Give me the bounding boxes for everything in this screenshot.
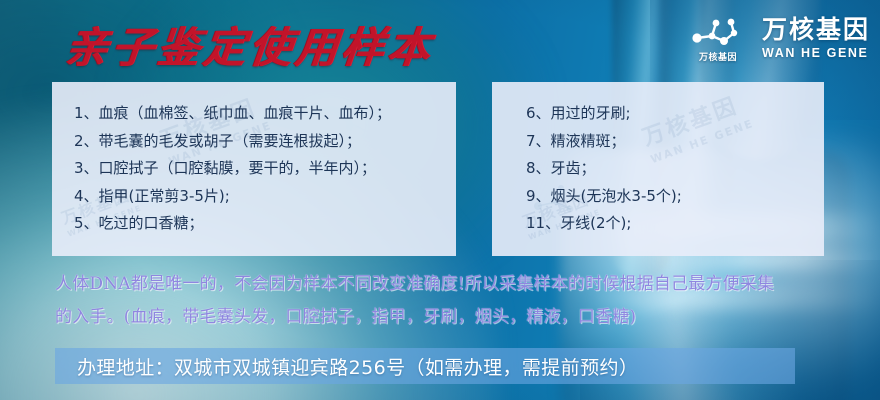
sample-panel-right: 万核基因 WAN HE GENE 万核基因 WAN HE GENE [492, 82, 824, 256]
list-item: 7、精液精斑； [526, 128, 808, 156]
list-item: 8、牙齿； [526, 155, 808, 183]
logo-name-en: WAN HE GENE [762, 46, 870, 60]
brand-logo: 万核基因 万核基因 WAN HE GENE [686, 14, 870, 62]
list-item: 2、带毛囊的毛发或胡子（需要连根拔起）； [74, 128, 440, 156]
logo-name-cn: 万核基因 [762, 16, 870, 44]
list-item: 6、用过的牙刷; [526, 100, 808, 128]
sample-list-left: 1、血痕（血棉签、纸巾血、血痕干片、血布）； 2、带毛囊的毛发或胡子（需要连根拔… [74, 100, 440, 238]
logo-mark-caption: 万核基因 [686, 50, 750, 63]
sample-list-panels: 万核基因 WAN HE GENE 万核基因 WAN HE GENE 1、血痕（血… [52, 82, 824, 256]
list-item: 9、烟头(无泡水3-5个); [526, 183, 808, 211]
molecule-network-icon: 万核基因 [686, 14, 750, 62]
sample-list-right: 6、用过的牙刷; 7、精液精斑； 8、牙齿； 9、烟头(无泡水3-5个); 11… [526, 100, 808, 238]
description-paragraph: 人体DNA都是唯一的，不会因为样本不同改变准确度!所以采集样本的时候根据自己最方… [55, 268, 845, 334]
address-text: 办理地址：双城市双城镇迎宾路256号（如需办理，需提前预约） [55, 353, 638, 380]
list-item: 4、指甲(正常剪3-5片); [74, 183, 440, 211]
paragraph-line: 的入手。(血痕，带毛囊头发，口腔拭子，指甲，牙刷，烟头，精液，口香糖) [55, 301, 845, 334]
address-bar: 办理地址：双城市双城镇迎宾路256号（如需办理，需提前预约） [55, 348, 795, 384]
list-item: 1、血痕（血棉签、纸巾血、血痕干片、血布）； [74, 100, 440, 128]
list-item: 3、口腔拭子（口腔黏膜，要干的，半年内）； [74, 155, 440, 183]
sample-panel-left: 万核基因 WAN HE GENE 万核基因 WAN HE GENE 1、血痕（血… [52, 82, 456, 256]
promo-banner: 亲子鉴定使用样本 万核 [0, 0, 880, 400]
page-title: 亲子鉴定使用样本 [63, 14, 437, 75]
paragraph-line: 人体DNA都是唯一的，不会因为样本不同改变准确度!所以采集样本的时候根据自己最方… [55, 268, 845, 301]
list-item: 5、吃过的口香糖； [74, 210, 440, 238]
list-item: 11、牙线(2个); [526, 210, 808, 238]
logo-wordmark: 万核基因 WAN HE GENE [762, 16, 870, 60]
